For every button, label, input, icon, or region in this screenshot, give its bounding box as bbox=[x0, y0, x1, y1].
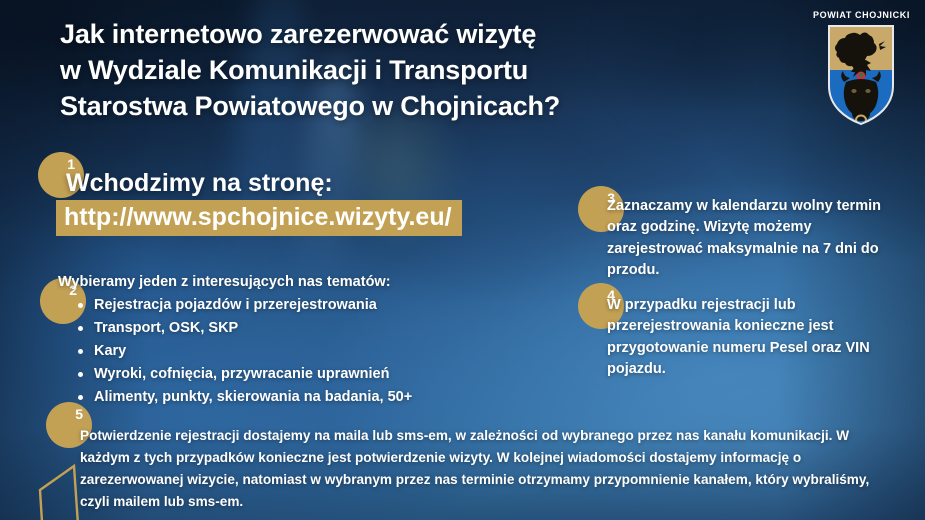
step-3: Zaznaczamy w kalendarzu wolny termin ora… bbox=[607, 196, 899, 282]
infographic-poster: POWIAT CHOJNICKI bbox=[0, 0, 925, 520]
list-item: Kary bbox=[94, 340, 528, 363]
step-4: W przypadku rejestracji lub przerejestro… bbox=[607, 295, 899, 381]
page-title: Jak internetowo zarezerwować wizytę w Wy… bbox=[60, 16, 780, 125]
step-3-body: Zaznaczamy w kalendarzu wolny termin ora… bbox=[607, 196, 899, 282]
step-badge-5-number: 5 bbox=[75, 407, 83, 421]
list-item: Rejestracja pojazdów i przerejestrowania bbox=[94, 294, 528, 317]
step-2: Wybieramy jeden z interesujących nas tem… bbox=[58, 274, 528, 409]
step-4-body: W przypadku rejestracji lub przerejestro… bbox=[607, 295, 899, 381]
list-item: Wyroki, cofnięcia, przywracanie uprawnie… bbox=[94, 363, 528, 386]
step-2-lead: Wybieramy jeden z interesujących nas tem… bbox=[58, 274, 528, 291]
coat-of-arms-shield-icon bbox=[813, 10, 909, 130]
headline-line-3: Starostwa Powiatowego w Chojnicach? bbox=[60, 88, 780, 124]
list-item: Transport, OSK, SKP bbox=[94, 317, 528, 340]
list-item: Alimenty, punkty, skierowania na badania… bbox=[94, 386, 528, 409]
step-5-body: Potwierdzenie rejestracji dostajemy na m… bbox=[80, 425, 885, 513]
step-2-topic-list: Rejestracja pojazdów i przerejestrowania… bbox=[58, 294, 528, 409]
step-1-lead: Wchodzimy na stronę: bbox=[66, 170, 566, 198]
step-1: Wchodzimy na stronę: http://www.spchojni… bbox=[66, 170, 566, 236]
headline-line-1: Jak internetowo zarezerwować wizytę bbox=[60, 16, 780, 52]
coat-of-arms-label: POWIAT CHOJNICKI bbox=[813, 10, 909, 20]
coat-of-arms: POWIAT CHOJNICKI bbox=[813, 10, 909, 130]
step-5: Potwierdzenie rejestracji dostajemy na m… bbox=[80, 425, 885, 513]
website-url-link[interactable]: http://www.spchojnice.wizyty.eu/ bbox=[56, 200, 462, 236]
headline-line-2: w Wydziale Komunikacji i Transportu bbox=[60, 52, 780, 88]
